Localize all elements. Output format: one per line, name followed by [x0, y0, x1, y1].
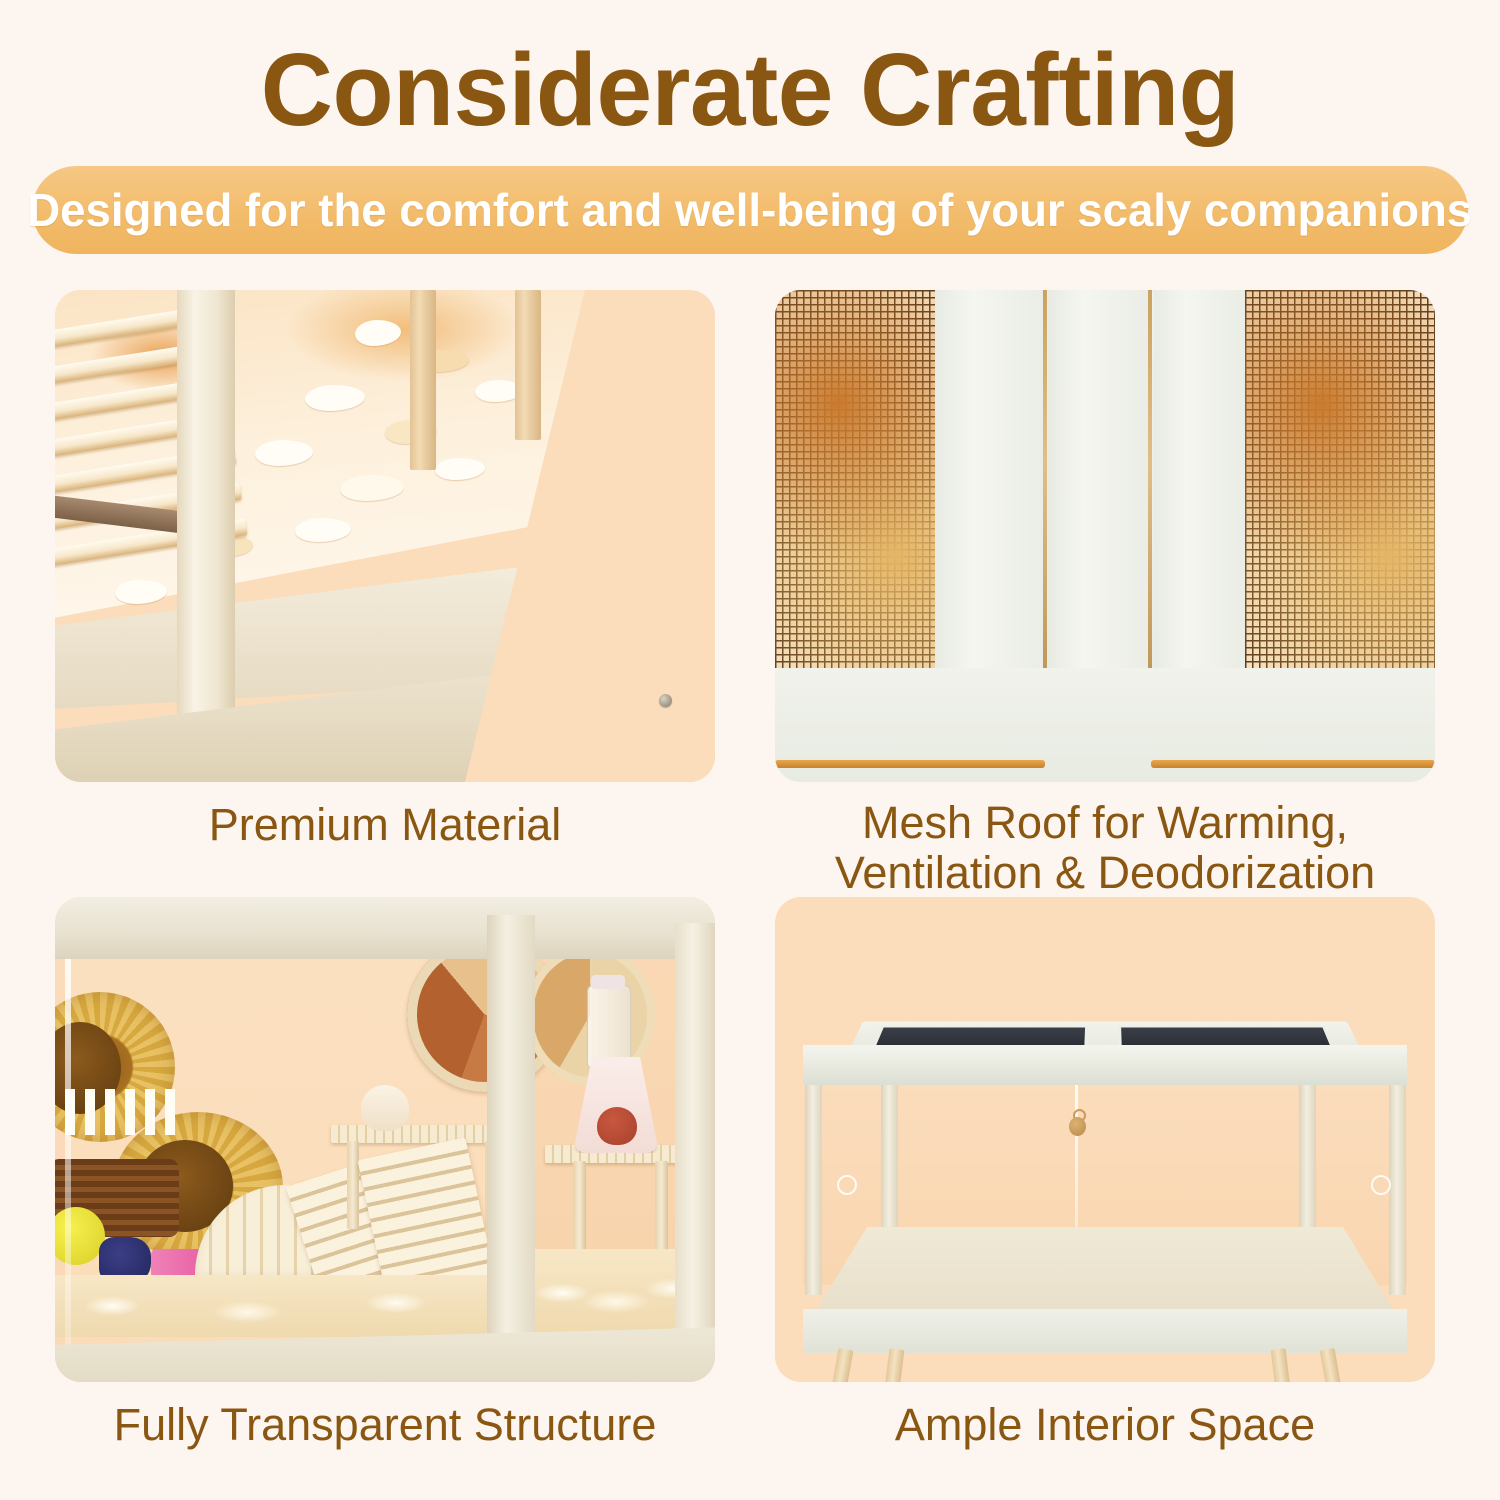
bottle-cap	[591, 975, 625, 989]
side-vent-hole	[1371, 1175, 1391, 1195]
photo-premium-material	[55, 290, 715, 782]
shelf-leg	[573, 1161, 586, 1261]
mesh-roof-panel	[1245, 290, 1435, 670]
cage-leg	[1320, 1348, 1342, 1382]
subtitle-text: Designed for the comfort and well-being …	[28, 183, 1473, 237]
bedding-layer	[55, 1275, 495, 1337]
cage-top-frame	[55, 897, 715, 959]
cage-side-frame	[675, 923, 715, 1382]
dispenser-window	[597, 1107, 637, 1145]
feature-card-transparent-structure: Fully Transparent Structure	[55, 897, 715, 1450]
wood-fence	[55, 1089, 175, 1135]
screw-icon	[659, 694, 672, 707]
feature-card-ample-interior: Ample Interior Space	[775, 897, 1435, 1450]
photo-ample-interior	[775, 897, 1435, 1382]
mesh-roof-panel	[775, 290, 935, 670]
cage-corner-post	[487, 915, 535, 1382]
vertical-wood-post	[515, 290, 541, 440]
lid-seam	[1043, 290, 1047, 720]
infographic-page: Considerate Crafting Designed for the co…	[0, 0, 1500, 1500]
feature-card-premium-material: Premium Material	[55, 290, 715, 850]
acrylic-front-panel	[65, 953, 71, 1353]
shelf-leg	[655, 1161, 668, 1261]
wood-trim-strip	[775, 760, 1045, 768]
feature-card-mesh-roof: Mesh Roof for Warming, Ventilation & Deo…	[775, 290, 1435, 899]
door-latch-icon	[1069, 1109, 1086, 1137]
water-bottle	[587, 985, 631, 1069]
vertical-wood-post	[410, 290, 436, 470]
cage-leg	[832, 1348, 854, 1382]
photo-mesh-roof	[775, 290, 1435, 782]
page-title: Considerate Crafting	[23, 36, 1478, 144]
cage-leg	[1271, 1348, 1291, 1382]
cage-top-rail	[803, 1045, 1407, 1089]
cage-corner-pillar	[1389, 1085, 1406, 1295]
caption-premium-material: Premium Material	[55, 800, 715, 850]
photo-transparent-structure	[55, 897, 715, 1382]
caption-ample-interior: Ample Interior Space	[775, 1400, 1435, 1450]
cage-inner-floor	[811, 1227, 1399, 1319]
caption-transparent-structure: Fully Transparent Structure	[55, 1400, 715, 1450]
cage-base-rail	[803, 1309, 1407, 1353]
side-vent-hole	[837, 1175, 857, 1195]
wood-trim-strip	[1151, 760, 1435, 768]
lid-seam	[1148, 290, 1152, 720]
cage-leg	[885, 1348, 905, 1382]
bear-figurine	[361, 1085, 409, 1131]
subtitle-banner: Designed for the comfort and well-being …	[32, 166, 1468, 254]
platform-leg	[347, 1141, 359, 1229]
caption-mesh-roof: Mesh Roof for Warming, Ventilation & Deo…	[775, 798, 1435, 899]
cage-corner-pillar	[805, 1085, 822, 1295]
